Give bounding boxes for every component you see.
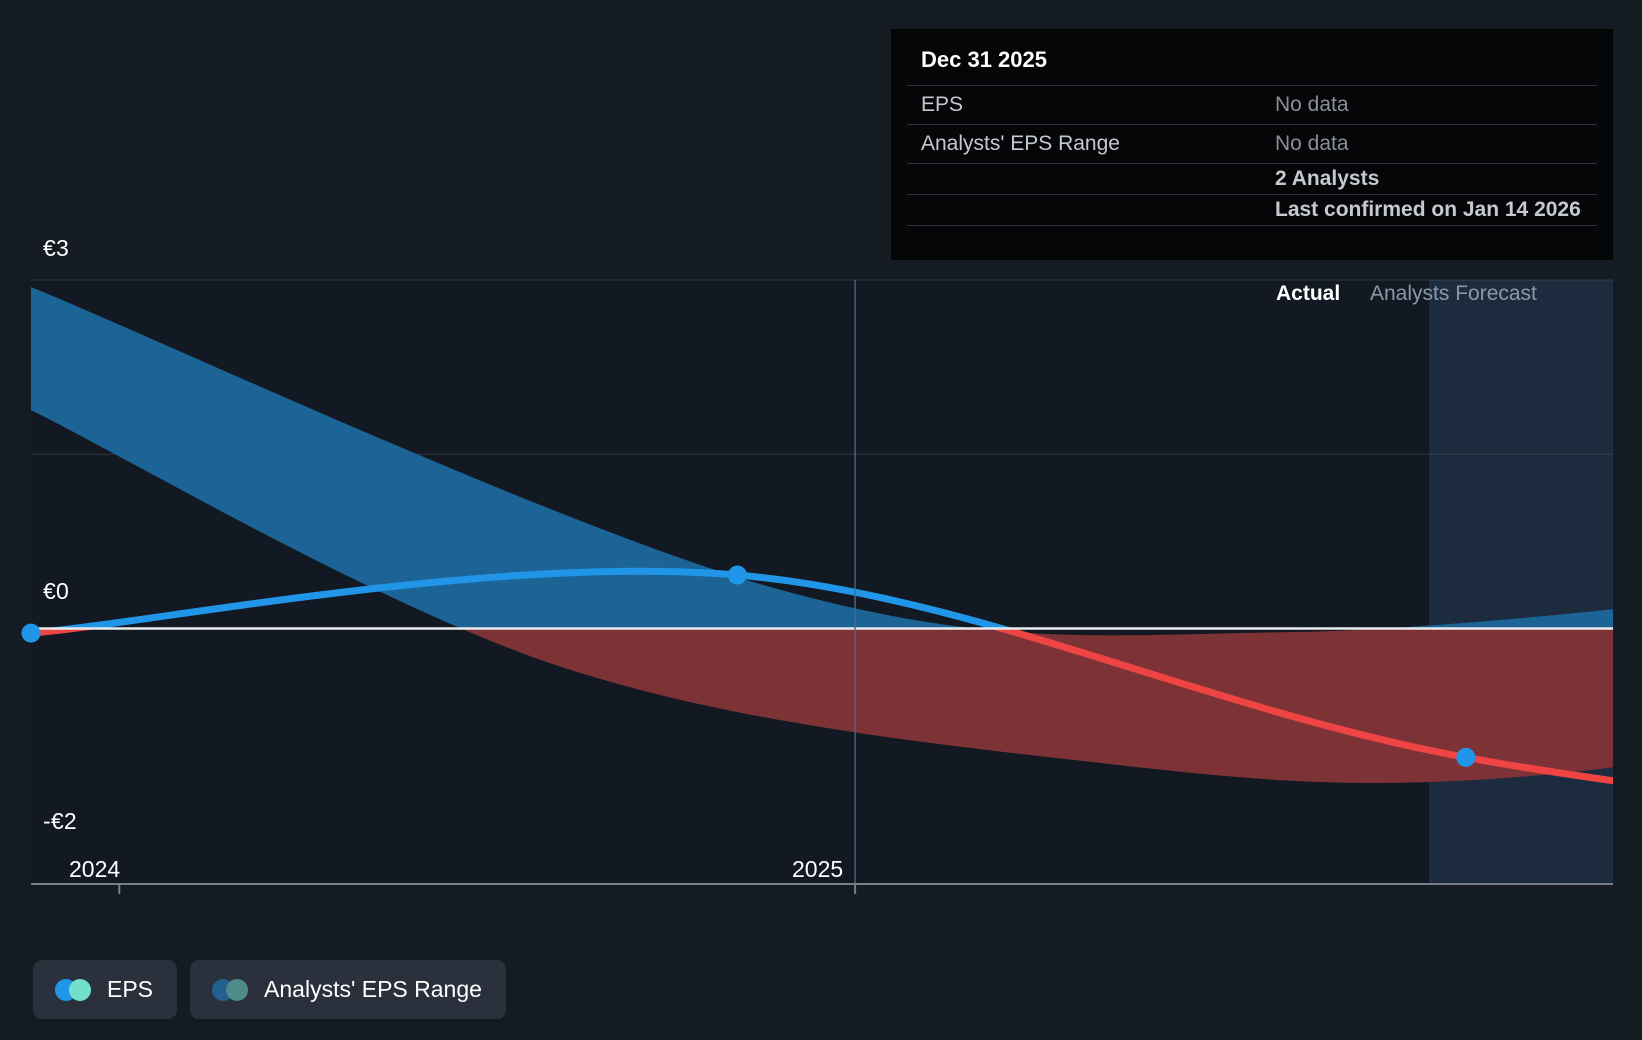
phase-label-actual: Actual — [1276, 282, 1340, 306]
chart-page: €3 €0 -€2 2024 2025 Actual Analysts Fore… — [0, 0, 1642, 1040]
eps-point-2[interactable] — [1456, 748, 1475, 767]
x-axis-label-2025: 2025 — [792, 856, 843, 883]
forecast-region-background — [1429, 280, 1613, 884]
analysts-range-swatch-icon — [212, 979, 248, 1001]
chart-tooltip: Dec 31 2025 EPS No data Analysts' EPS Ra… — [890, 29, 1613, 260]
x-axis-line — [31, 884, 1613, 894]
legend-label-analysts-range: Analysts' EPS Range — [264, 976, 482, 1003]
y-axis-label-bottom: -€2 — [43, 808, 77, 835]
legend-label-eps: EPS — [107, 976, 153, 1003]
tooltip-footer-left — [907, 226, 1261, 253]
tooltip-footer-right — [1261, 226, 1597, 253]
legend-item-analysts-range[interactable]: Analysts' EPS Range — [190, 960, 506, 1019]
tooltip-value-range: No data — [1261, 125, 1597, 164]
tooltip-title: Dec 31 2025 — [907, 47, 1597, 85]
tooltip-value-analyst-count: 2 Analysts — [1261, 164, 1597, 195]
plot-backgrounds — [31, 280, 1613, 884]
eps-point-0[interactable] — [22, 624, 41, 643]
tooltip-row-range: Analysts' EPS Range No data — [907, 125, 1597, 164]
tooltip-row-analysts: 2 Analysts — [907, 164, 1597, 195]
tooltip-key-eps: EPS — [907, 86, 1261, 125]
tooltip-value-last-confirmed: Last confirmed on Jan 14 2026 — [1261, 195, 1597, 226]
y-axis-label-top: €3 — [43, 235, 69, 262]
y-axis-label-zero: €0 — [43, 578, 69, 605]
tooltip-table: EPS No data Analysts' EPS Range No data … — [907, 85, 1597, 252]
phase-label-forecast: Analysts Forecast — [1370, 282, 1537, 306]
tooltip-row-confirmed: Last confirmed on Jan 14 2026 — [907, 195, 1597, 226]
tooltip-value-eps: No data — [1261, 86, 1597, 125]
tooltip-footer-row — [907, 226, 1597, 253]
legend-item-eps[interactable]: EPS — [33, 960, 177, 1019]
chart-legend: EPS Analysts' EPS Range — [33, 960, 506, 1019]
tooltip-key-range: Analysts' EPS Range — [907, 125, 1261, 164]
eps-swatch-icon — [55, 979, 91, 1001]
x-axis-label-2024: 2024 — [69, 856, 120, 883]
tooltip-key-blank — [907, 164, 1261, 195]
tooltip-key-blank-2 — [907, 195, 1261, 226]
eps-point-1[interactable] — [728, 566, 747, 585]
tooltip-row-eps: EPS No data — [907, 86, 1597, 125]
